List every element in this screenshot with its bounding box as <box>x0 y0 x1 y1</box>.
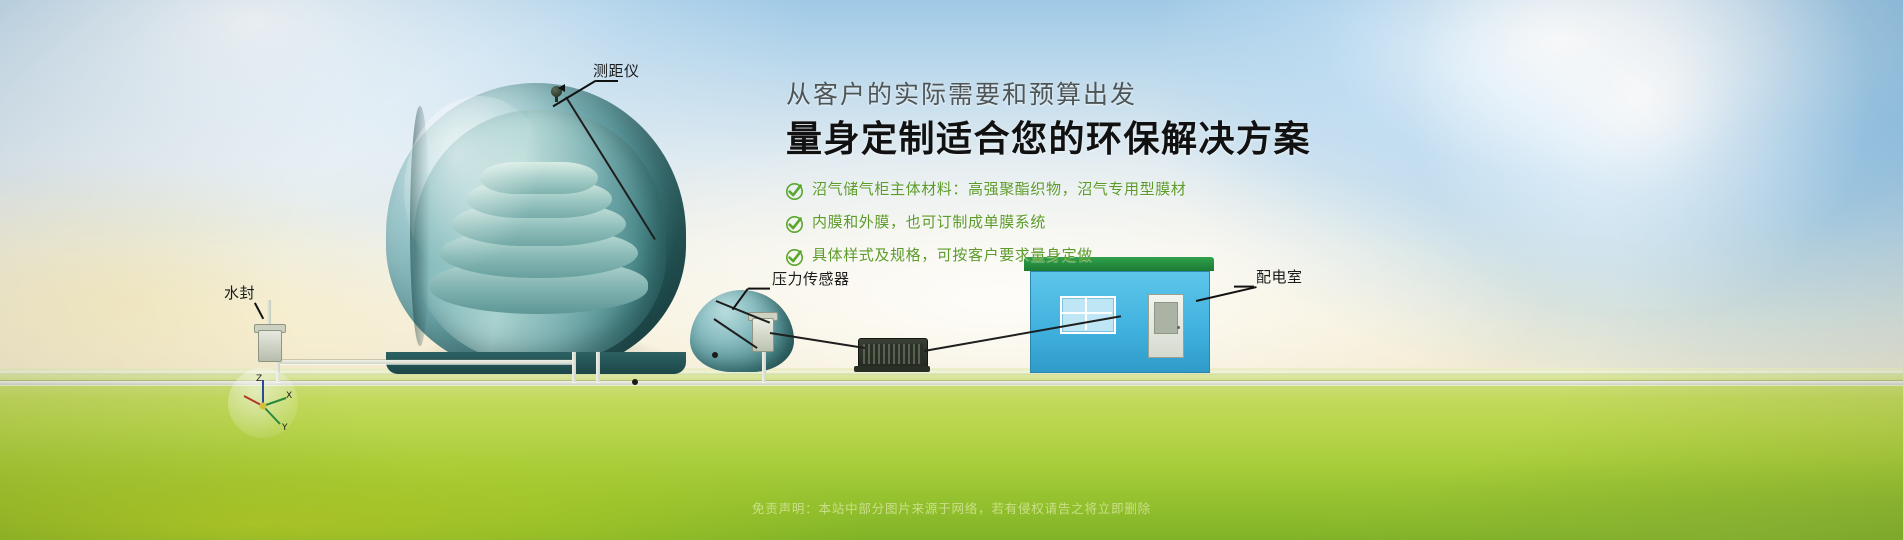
dome-cutaway-edge <box>410 106 430 346</box>
control-panel-knob <box>1177 326 1180 329</box>
axis-label-y: Y <box>281 423 288 433</box>
check-circle-icon <box>786 183 803 200</box>
pipe-riser-mid-b <box>596 352 600 382</box>
list-item: 沼气储气柜主体材料：高强聚酯织物，沼气专用型膜材 <box>786 181 1346 200</box>
feature-text: 沼气储气柜主体材料：高强聚酯织物，沼气专用型膜材 <box>812 181 1186 198</box>
water-seal-unit <box>258 330 282 362</box>
feature-text: 具体样式及规格，可按客户要求量身定做 <box>812 247 1093 264</box>
leader-rangefinder-h <box>596 80 618 82</box>
feature-text: 内膜和外膜，也可订制成单膜系统 <box>812 214 1046 231</box>
leader-pressure-sensor-h <box>748 288 770 290</box>
wire-node <box>712 352 718 358</box>
axis-gizmo: Z X Y <box>228 368 298 438</box>
control-room-window <box>1060 296 1116 334</box>
axis-label-x: X <box>286 391 292 401</box>
check-circle-icon <box>786 216 803 233</box>
blower-grill <box>863 344 923 364</box>
promo-subtitle: 从客户的实际需要和预算出发 <box>786 80 1346 110</box>
disclaimer-text: 免责声明：本站中部分图片来源于网络，若有侵权请告之将立即删除 <box>0 498 1903 517</box>
blower-base <box>854 366 930 372</box>
wire-node <box>632 379 638 385</box>
check-circle-icon <box>786 249 803 266</box>
arrowhead-rangefinder <box>558 84 565 92</box>
promo-headline: 量身定制适合您的环保解决方案 <box>786 119 1346 161</box>
pipe-riser-mid-a <box>572 352 576 382</box>
feature-list: 沼气储气柜主体材料：高强聚酯织物，沼气专用型膜材 内膜和外膜，也可订制成单膜系统 <box>786 181 1346 266</box>
promo-copy-block: 从客户的实际需要和预算出发 量身定制适合您的环保解决方案 沼气储气柜主体材料：高… <box>786 80 1346 280</box>
banner-stage: Z X Y 测距仪 水封 压力传感器 配电室 从客户的实际需要和预算出发 量身定… <box>0 0 1903 540</box>
water-seal-stem <box>267 300 271 326</box>
membrane-step <box>480 162 598 194</box>
axis-label-z: Z <box>256 374 262 384</box>
control-panel-face <box>1154 302 1178 334</box>
list-item: 内膜和外膜，也可订制成单膜系统 <box>786 214 1346 233</box>
label-rangefinder: 测距仪 <box>593 60 640 81</box>
list-item: 具体样式及规格，可按客户要求量身定做 <box>786 247 1346 266</box>
label-water-seal: 水封 <box>224 282 255 303</box>
branch-pipeline-left <box>276 360 576 364</box>
dome-inner-membrane <box>414 110 666 362</box>
window-transom <box>1060 312 1112 314</box>
